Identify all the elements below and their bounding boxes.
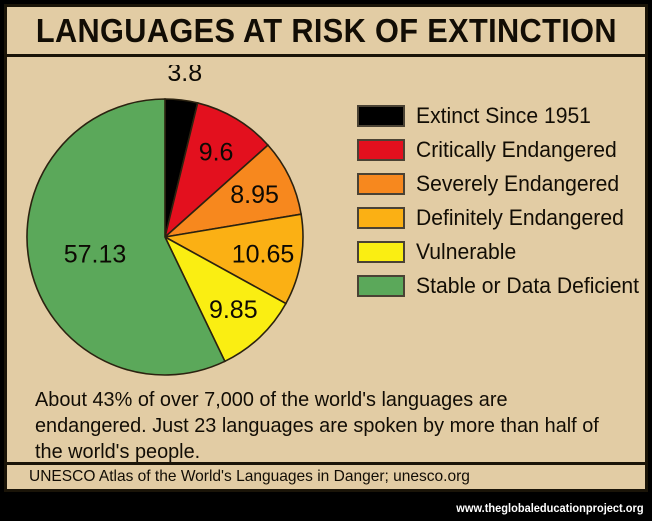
- infographic-root: LANGUAGES AT RISK OF EXTINCTION 3.89.68.…: [0, 0, 652, 521]
- legend-item: Severely Endangered: [357, 167, 648, 201]
- legend-item: Definitely Endangered: [357, 201, 648, 235]
- chart-body: 3.89.68.9510.659.8557.13 Extinct Since 1…: [7, 57, 645, 489]
- title-bar: LANGUAGES AT RISK OF EXTINCTION: [7, 7, 645, 57]
- legend-label: Stable or Data Deficient: [416, 273, 639, 299]
- pie-slice-label: 9.6: [199, 139, 234, 167]
- legend-item: Extinct Since 1951: [357, 99, 648, 133]
- legend-label: Critically Endangered: [416, 137, 617, 163]
- source-strip: UNESCO Atlas of the World's Languages in…: [7, 462, 645, 489]
- legend-swatch: [357, 173, 405, 195]
- legend-item: Critically Endangered: [357, 133, 648, 167]
- source-text: UNESCO Atlas of the World's Languages in…: [29, 468, 470, 486]
- infographic-card: LANGUAGES AT RISK OF EXTINCTION 3.89.68.…: [4, 4, 648, 492]
- url-bar: www.theglobaleducationproject.org: [0, 494, 652, 521]
- legend: Extinct Since 1951Critically EndangeredS…: [357, 99, 648, 303]
- site-url: www.theglobaleducationproject.org: [457, 501, 644, 515]
- legend-label: Definitely Endangered: [416, 205, 624, 231]
- legend-label: Extinct Since 1951: [416, 103, 591, 129]
- pie-slice-label: 10.65: [232, 240, 295, 268]
- legend-swatch: [357, 139, 405, 161]
- legend-label: Vulnerable: [416, 239, 516, 265]
- legend-item: Stable or Data Deficient: [357, 269, 648, 303]
- legend-swatch: [357, 207, 405, 229]
- legend-swatch: [357, 105, 405, 127]
- legend-swatch: [357, 275, 405, 297]
- pie-slice-label: 57.13: [64, 240, 127, 268]
- legend-swatch: [357, 241, 405, 263]
- pie-chart-svg: 3.89.68.9510.659.8557.13: [13, 65, 343, 395]
- caption-text: About 43% of over 7,000 of the world's l…: [35, 387, 607, 465]
- page-title: LANGUAGES AT RISK OF EXTINCTION: [35, 14, 616, 47]
- pie-slice-label: 3.8: [167, 65, 202, 87]
- pie-slice-label: 8.95: [230, 181, 279, 209]
- legend-label: Severely Endangered: [416, 171, 619, 197]
- legend-item: Vulnerable: [357, 235, 648, 269]
- pie-slice-label: 9.85: [209, 296, 258, 324]
- pie-chart: 3.89.68.9510.659.8557.13: [13, 65, 343, 395]
